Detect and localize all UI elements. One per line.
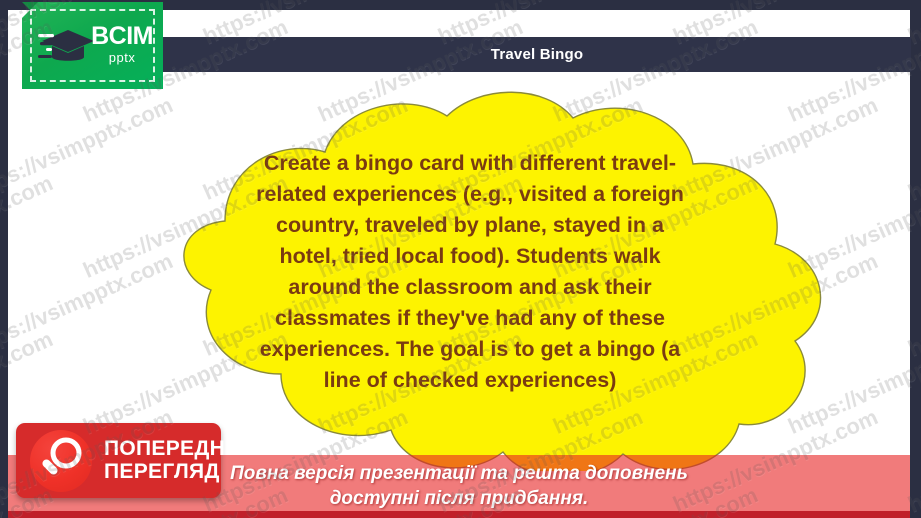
logo-card: BCIM pptx bbox=[22, 2, 163, 89]
preview-badge[interactable]: ПОПЕРЕДНІЙ ПЕРЕГЛЯД bbox=[16, 423, 221, 498]
slide-title-bar: Travel Bingo bbox=[163, 37, 911, 72]
cloud-callout: Create a bingo card with different trave… bbox=[75, 86, 865, 471]
page-title: Travel Bingo bbox=[491, 46, 583, 63]
graduation-cap-icon bbox=[38, 26, 94, 68]
badge-circle bbox=[30, 430, 92, 492]
preview-badge-label: ПОПЕРЕДНІЙ ПЕРЕГЛЯД bbox=[104, 438, 247, 482]
magnifier-icon bbox=[30, 430, 92, 492]
banner-bottom-strip bbox=[8, 511, 910, 518]
cloud-body-text: Create a bingo card with different trave… bbox=[200, 148, 740, 396]
site-logo[interactable]: BCIM pptx bbox=[22, 2, 163, 89]
logo-subtitle: pptx bbox=[91, 51, 153, 64]
logo-wordmark: BCIM pptx bbox=[91, 24, 153, 64]
purchase-notice-text: Повна версія презентації та решта доповн… bbox=[230, 462, 688, 511]
logo-name: BCIM bbox=[91, 24, 153, 49]
slide-canvas: Create a bingo card with different trave… bbox=[0, 0, 921, 518]
